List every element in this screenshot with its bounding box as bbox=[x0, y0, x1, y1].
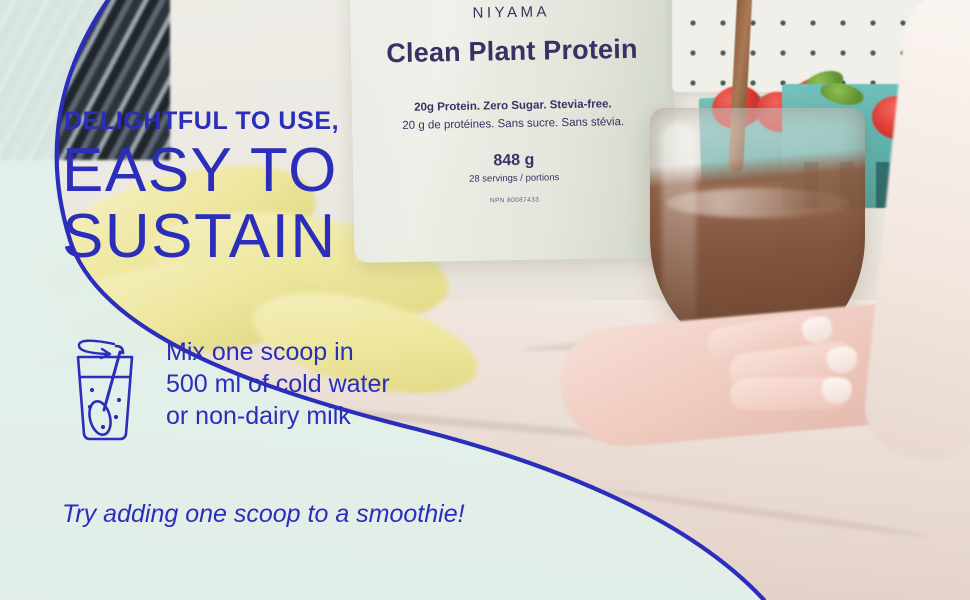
product-marketing-banner: NIYAMA Clean Plant Protein 20g Protein. … bbox=[0, 0, 970, 600]
smoothie-tagline: Try adding one scoop to a smoothie! bbox=[62, 500, 465, 529]
headline-line-2: SUSTAIN bbox=[62, 206, 337, 268]
glass-with-spoon-stir-icon bbox=[68, 322, 146, 442]
headline-line-1: EASY TO bbox=[62, 140, 338, 202]
banner-content: DELIGHTFUL TO USE, EASY TO SUSTAIN bbox=[0, 0, 970, 600]
instruction-line-1: Mix one scoop in bbox=[166, 336, 390, 368]
instruction-line-2: 500 ml of cold water bbox=[166, 368, 390, 400]
instruction-line-3: or non-dairy milk bbox=[166, 400, 390, 432]
mixing-instructions: Mix one scoop in 500 ml of cold water or… bbox=[166, 336, 390, 432]
headline-eyebrow: DELIGHTFUL TO USE, bbox=[64, 107, 339, 136]
